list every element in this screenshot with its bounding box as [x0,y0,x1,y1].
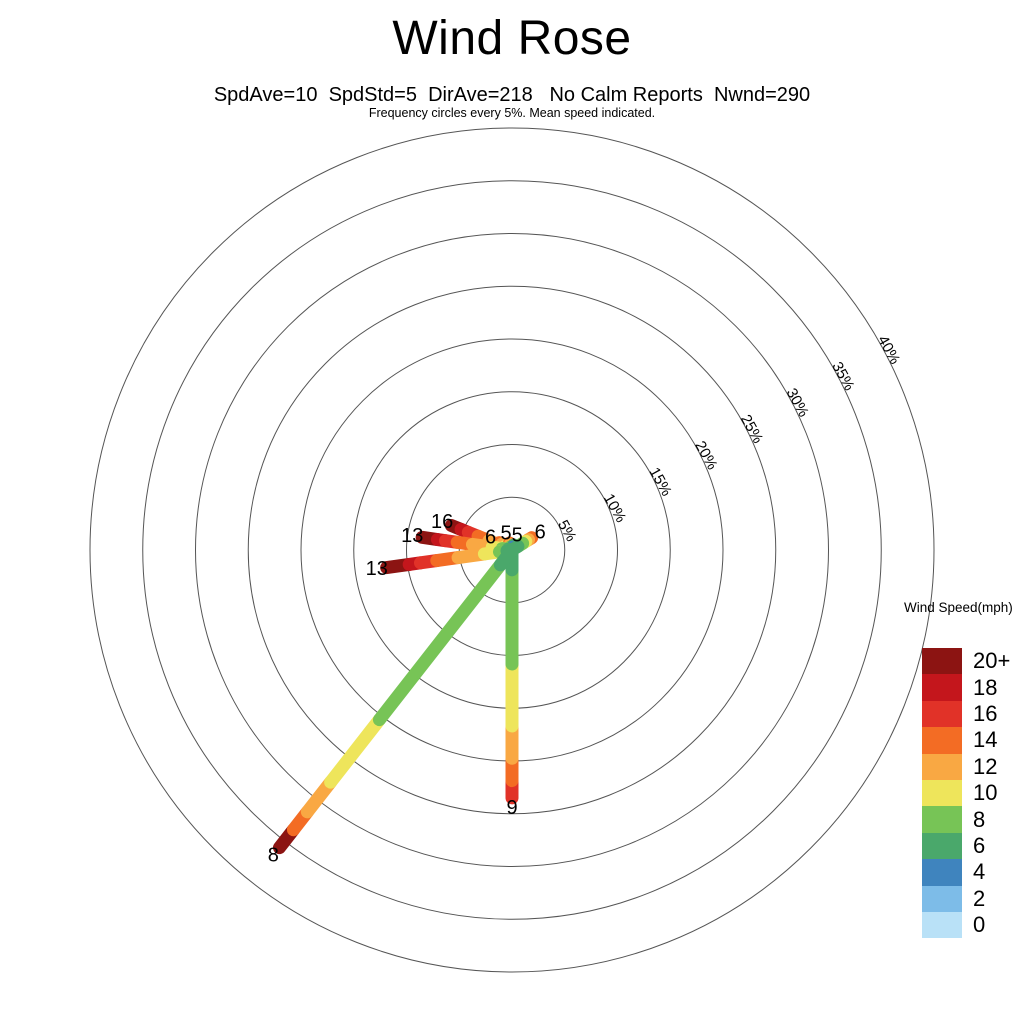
legend-row: 6 [922,833,1024,859]
petal-mean-speed-label: 5 [512,525,523,547]
legend-color-swatch [922,912,962,938]
legend-color-swatch [922,727,962,753]
radial-tick-label: 35% [828,359,857,394]
radial-tick-label: 15% [646,465,675,500]
legend-color-swatch [922,859,962,885]
radial-tick-label: 5% [554,517,579,544]
legend-row: 12 [922,754,1024,780]
radial-axis-labels: 5%10%15%20%25%30%35%40% [554,333,903,545]
legend-row: 8 [922,806,1024,832]
petal-segment [379,565,500,720]
petal-mean-speed-label: 5 [500,523,511,545]
petal-mean-speed-label: 13 [366,558,388,580]
petal-mean-speed-label: 8 [268,845,279,867]
legend-color-swatch [922,886,962,912]
wind-speed-legend: Wind Speed(mph) 20+181614121086420 [900,600,1024,938]
radial-tick-label: 30% [783,385,812,420]
petal-segment [331,720,380,783]
wind-rose-page: Wind Rose SpdAve=10 SpdStd=5 DirAve=218 … [0,0,1024,1024]
legend-entries: 20+181614121086420 [922,648,1024,938]
radial-tick-label: 10% [600,491,629,526]
legend-row: 4 [922,859,1024,885]
legend-row: 2 [922,886,1024,912]
legend-label: 0 [973,914,985,936]
legend-label: 12 [973,756,997,778]
legend-row: 18 [922,674,1024,700]
legend-color-swatch [922,648,962,674]
radial-tick-label: 20% [691,438,720,473]
legend-label: 8 [973,809,985,831]
radial-tick-label: 25% [737,412,766,447]
petal-mean-speed-label: 13 [401,525,423,547]
legend-row: 14 [922,727,1024,753]
legend-label: 20+ [973,650,1010,672]
legend-color-swatch [922,833,962,859]
legend-label: 14 [973,729,997,751]
petal-mean-speed-label: 6 [535,521,546,543]
wind-petals [279,525,531,847]
legend-row: 20+ [922,648,1024,674]
legend-color-swatch [922,674,962,700]
legend-color-swatch [922,780,962,806]
legend-label: 6 [973,835,985,857]
legend-label: 10 [973,782,997,804]
legend-label: 4 [973,861,985,883]
radial-tick-label: 40% [874,333,903,368]
legend-color-swatch [922,701,962,727]
legend-row: 16 [922,701,1024,727]
legend-color-swatch [922,806,962,832]
legend-label: 2 [973,888,985,910]
legend-title: Wind Speed(mph) [904,600,1024,615]
legend-row: 10 [922,780,1024,806]
petal-mean-speed-label: 9 [506,797,517,819]
legend-color-swatch [922,754,962,780]
legend-label: 18 [973,677,997,699]
legend-row: 0 [922,912,1024,938]
legend-label: 16 [973,703,997,725]
petal-segment [500,550,512,565]
petal-mean-speed-label: 6 [485,527,496,549]
wind-rose-plot: 5%10%15%20%25%30%35%40% 166556131398 [0,0,1024,1024]
petal-mean-speed-label: 16 [431,511,453,533]
